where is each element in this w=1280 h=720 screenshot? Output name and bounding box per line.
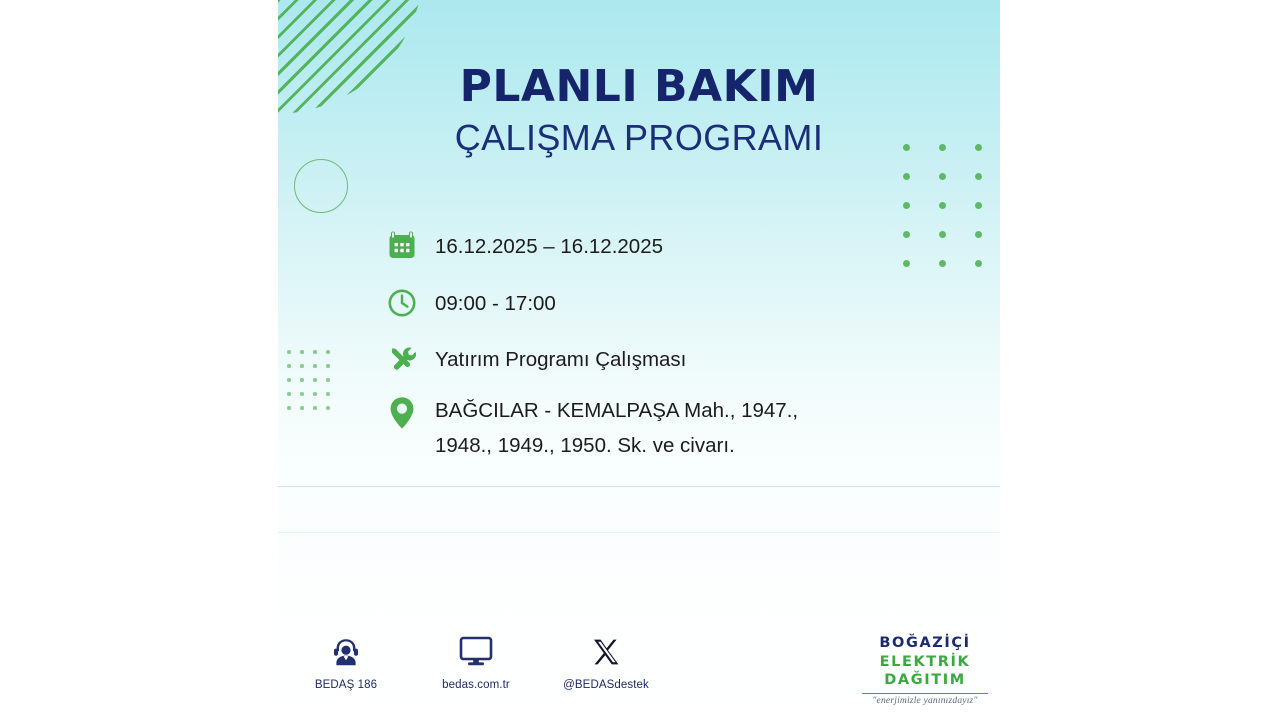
x-twitter-icon (563, 632, 649, 672)
decoration-dot (326, 406, 330, 410)
detail-row-work-type: Yatırım Programı Çalışması (381, 338, 941, 380)
detail-text-date: 16.12.2025 – 16.12.2025 (423, 224, 663, 265)
detail-row-date: 16.12.2025 – 16.12.2025 (381, 224, 941, 266)
decoration-dot (313, 364, 317, 368)
circle-outline-decoration (294, 159, 348, 213)
maintenance-poster: PLANLI BAKIM ÇALIŞMA PROGRAMI (278, 0, 1000, 720)
decoration-dot (326, 378, 330, 382)
title-main: PLANLI BAKIM (278, 64, 1000, 110)
brand-line-dagitim: DAĞITIM (862, 671, 988, 690)
brand-divider (862, 693, 988, 694)
decoration-dot (326, 350, 330, 354)
decoration-dot (300, 378, 304, 382)
brand-tagline: "enerjimizle yanınızdayız" (862, 696, 988, 706)
title-subtitle: ÇALIŞMA PROGRAMI (278, 116, 1000, 159)
dot-grid-left-decoration (287, 350, 339, 420)
monitor-icon (433, 632, 519, 672)
contact-website[interactable]: bedas.com.tr (433, 632, 519, 691)
contact-channels: BEDAŞ 186 bedas.com.tr (303, 632, 649, 691)
decoration-dot (287, 406, 291, 410)
detail-row-location: BAĞCILAR - KEMALPAŞA Mah., 1947., 1948.,… (381, 392, 941, 464)
brand-line-elektrik: ELEKTRİK (862, 653, 988, 672)
decoration-dot (300, 406, 304, 410)
clock-icon (381, 282, 423, 324)
decoration-dot (326, 392, 330, 396)
outage-details-list: 16.12.2025 – 16.12.2025 09:00 - 17:00 (381, 224, 941, 480)
decoration-dot (287, 364, 291, 368)
detail-text-time: 09:00 - 17:00 (423, 282, 556, 322)
contact-x-account[interactable]: @BEDASdestek (563, 632, 649, 691)
decoration-dot (300, 392, 304, 396)
detail-text-work-type: Yatırım Programı Çalışması (423, 338, 686, 378)
detail-row-time: 09:00 - 17:00 (381, 282, 941, 324)
tools-icon (381, 338, 423, 380)
decoration-dot (939, 202, 946, 209)
decoration-dot (975, 231, 982, 238)
decoration-dot (326, 364, 330, 368)
decoration-dot (975, 202, 982, 209)
panel-seam-line-secondary (278, 532, 1000, 533)
brand-line-bogazici: BOĞAZİÇİ (862, 634, 988, 653)
map-pin-icon (381, 392, 423, 434)
decoration-dot (975, 260, 982, 267)
decoration-dot (903, 202, 910, 209)
contact-label-call-center: BEDAŞ 186 (303, 679, 389, 691)
detail-text-location: BAĞCILAR - KEMALPAŞA Mah., 1947., 1948.,… (423, 392, 798, 464)
headset-support-icon (303, 632, 389, 672)
calendar-icon (381, 224, 423, 266)
contact-label-website: bedas.com.tr (433, 679, 519, 691)
decoration-dot (313, 350, 317, 354)
decoration-dot (287, 378, 291, 382)
contact-call-center[interactable]: BEDAŞ 186 (303, 632, 389, 691)
decoration-dot (313, 406, 317, 410)
screenshot-stage: PLANLI BAKIM ÇALIŞMA PROGRAMI (0, 0, 1280, 720)
decoration-dot (313, 378, 317, 382)
poster-footer: BEDAŞ 186 bedas.com.tr (278, 632, 1000, 720)
decoration-dot (300, 350, 304, 354)
decoration-dot (975, 173, 982, 180)
decoration-dot (903, 173, 910, 180)
decoration-dot (287, 350, 291, 354)
page-title: PLANLI BAKIM ÇALIŞMA PROGRAMI (278, 64, 1000, 159)
decoration-dot (313, 392, 317, 396)
decoration-dot (287, 392, 291, 396)
decoration-dot (939, 173, 946, 180)
decoration-dot (300, 364, 304, 368)
bedas-logo: BOĞAZİÇİ ELEKTRİK DAĞITIM "enerjimizle y… (862, 634, 988, 706)
panel-seam-line (278, 486, 1000, 487)
contact-label-x-account: @BEDASdestek (563, 679, 649, 691)
